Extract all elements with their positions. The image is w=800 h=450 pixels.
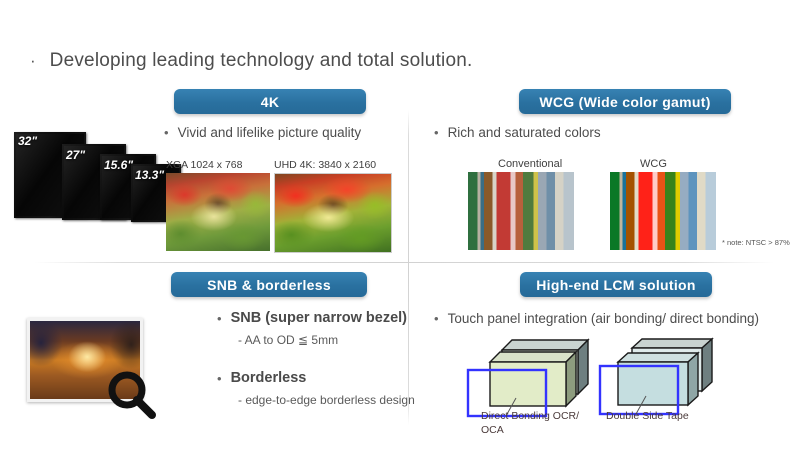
bullet-text-4k: Vivid and lifelike picture quality xyxy=(178,124,362,141)
monitor-size-label-27: 27" xyxy=(66,148,85,162)
bullet-4k: • Vivid and lifelike picture quality xyxy=(164,124,361,141)
bullet-heading-borderless: Borderless xyxy=(231,370,307,387)
monitor-size-label-32: 32" xyxy=(18,134,37,148)
garden-photo-uhd xyxy=(274,173,392,253)
label-conventional: Conventional xyxy=(498,158,562,170)
horizontal-divider xyxy=(34,262,774,263)
ntsc-note: * note: NTSC > 87% xyxy=(722,238,790,247)
bullet-text-lcm: Touch panel integration (air bonding/ di… xyxy=(448,310,759,327)
stack-direct-bonding xyxy=(468,340,588,416)
bullet-wcg: • Rich and saturated colors xyxy=(434,124,601,141)
vertical-divider xyxy=(408,110,409,425)
bullet-icon: • xyxy=(164,124,169,141)
bullet-snb: • SNB (super narrow bezel) xyxy=(217,310,407,327)
slide-canvas: · Developing leading technology and tota… xyxy=(0,0,800,450)
bullet-icon: • xyxy=(217,370,222,387)
caption-xga: XGA 1024 x 768 xyxy=(166,159,242,171)
section-header-4k: 4K xyxy=(174,89,366,114)
section-header-wcg: WCG (Wide color gamut) xyxy=(519,89,731,114)
bullet-borderless: • Borderless xyxy=(217,370,306,387)
headline-bullet-icon: · xyxy=(30,48,36,74)
bullet-text-wcg: Rich and saturated colors xyxy=(448,124,601,141)
bullet-lcm: • Touch panel integration (air bonding/ … xyxy=(434,310,759,327)
section-header-snb: SNB & borderless xyxy=(171,272,367,297)
bullet-icon: • xyxy=(217,310,222,327)
lcm-label-direct-bonding: Direct Bonding OCR/ OCA xyxy=(481,409,591,437)
bullet-icon: • xyxy=(434,310,439,327)
sub-text-borderless: - edge-to-edge borderless design xyxy=(238,392,415,408)
page-title: · Developing leading technology and tota… xyxy=(30,48,473,74)
lcm-label-double-side-tape: Double Side Tape xyxy=(606,409,716,423)
stack-double-side-tape xyxy=(600,339,712,414)
sub-text-snb: - AA to OD ≦ 5mm xyxy=(238,332,338,348)
facade-wcg xyxy=(610,172,716,250)
label-wcg: WCG xyxy=(640,158,667,170)
magnifier-icon xyxy=(105,368,157,420)
bullet-heading-snb: SNB (super narrow bezel) xyxy=(231,310,407,327)
facade-conventional xyxy=(468,172,574,250)
caption-uhd: UHD 4K: 3840 x 2160 xyxy=(274,159,376,171)
headline-text: Developing leading technology and total … xyxy=(50,48,473,74)
monitor-size-label-13: 13.3" xyxy=(135,168,164,182)
section-header-lcm: High-end LCM solution xyxy=(520,272,712,297)
bullet-icon: • xyxy=(434,124,439,141)
garden-photo-xga xyxy=(166,173,270,251)
monitor-size-label-15: 15.6" xyxy=(104,158,133,172)
